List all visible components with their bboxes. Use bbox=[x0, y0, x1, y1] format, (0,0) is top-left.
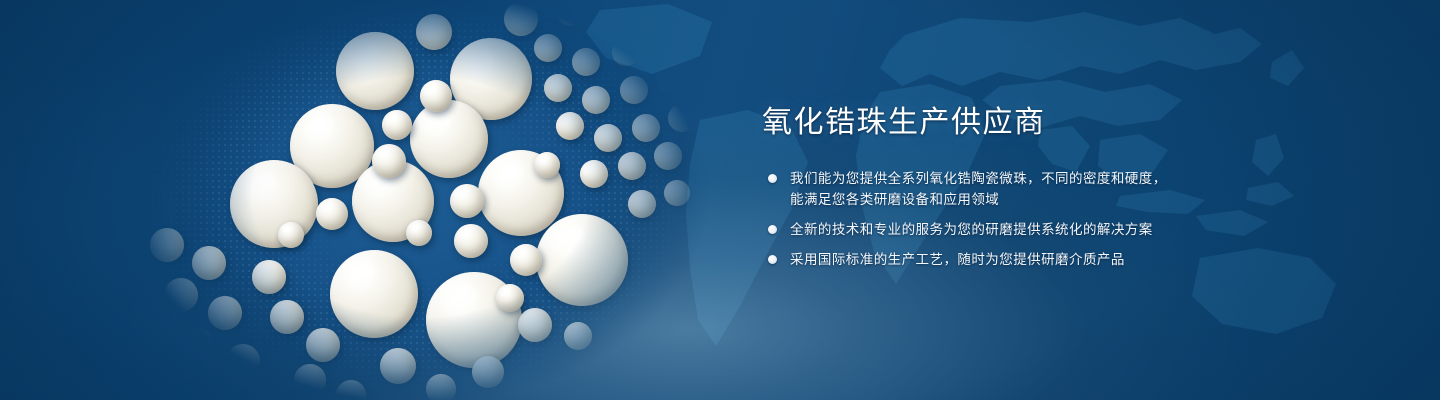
bullet-dot-icon bbox=[768, 174, 777, 183]
bead-cluster bbox=[120, 0, 720, 400]
banner-feature-list: 我们能为您提供全系列氧化锆陶瓷微珠，不同的密度和硬度， 能满足您各类研磨设备和应… bbox=[762, 168, 1232, 270]
bullet-text-line2: 能满足您各类研磨设备和应用领域 bbox=[790, 189, 1232, 210]
bullet-dot-icon bbox=[768, 225, 777, 234]
list-item: 采用国际标准的生产工艺，随时为您提供研磨介质产品 bbox=[762, 249, 1232, 270]
list-item: 全新的技术和专业的服务为您的研磨提供系统化的解决方案 bbox=[762, 219, 1232, 240]
banner-copy-block: 氧化锆珠生产供应商 我们能为您提供全系列氧化锆陶瓷微珠，不同的密度和硬度， 能满… bbox=[762, 104, 1232, 270]
zirconia-beads-photo bbox=[120, 0, 720, 400]
bullet-text-line1: 我们能为您提供全系列氧化锆陶瓷微珠，不同的密度和硬度， bbox=[790, 171, 1167, 186]
banner-title: 氧化锆珠生产供应商 bbox=[762, 104, 1232, 142]
product-hero-banner: 氧化锆珠生产供应商 我们能为您提供全系列氧化锆陶瓷微珠，不同的密度和硬度， 能满… bbox=[0, 0, 1440, 400]
bullet-text-line1: 全新的技术和专业的服务为您的研磨提供系统化的解决方案 bbox=[790, 222, 1153, 237]
list-item: 我们能为您提供全系列氧化锆陶瓷微珠，不同的密度和硬度， 能满足您各类研磨设备和应… bbox=[762, 168, 1232, 210]
bullet-text-line1: 采用国际标准的生产工艺，随时为您提供研磨介质产品 bbox=[790, 252, 1125, 267]
bullet-dot-icon bbox=[768, 255, 777, 264]
